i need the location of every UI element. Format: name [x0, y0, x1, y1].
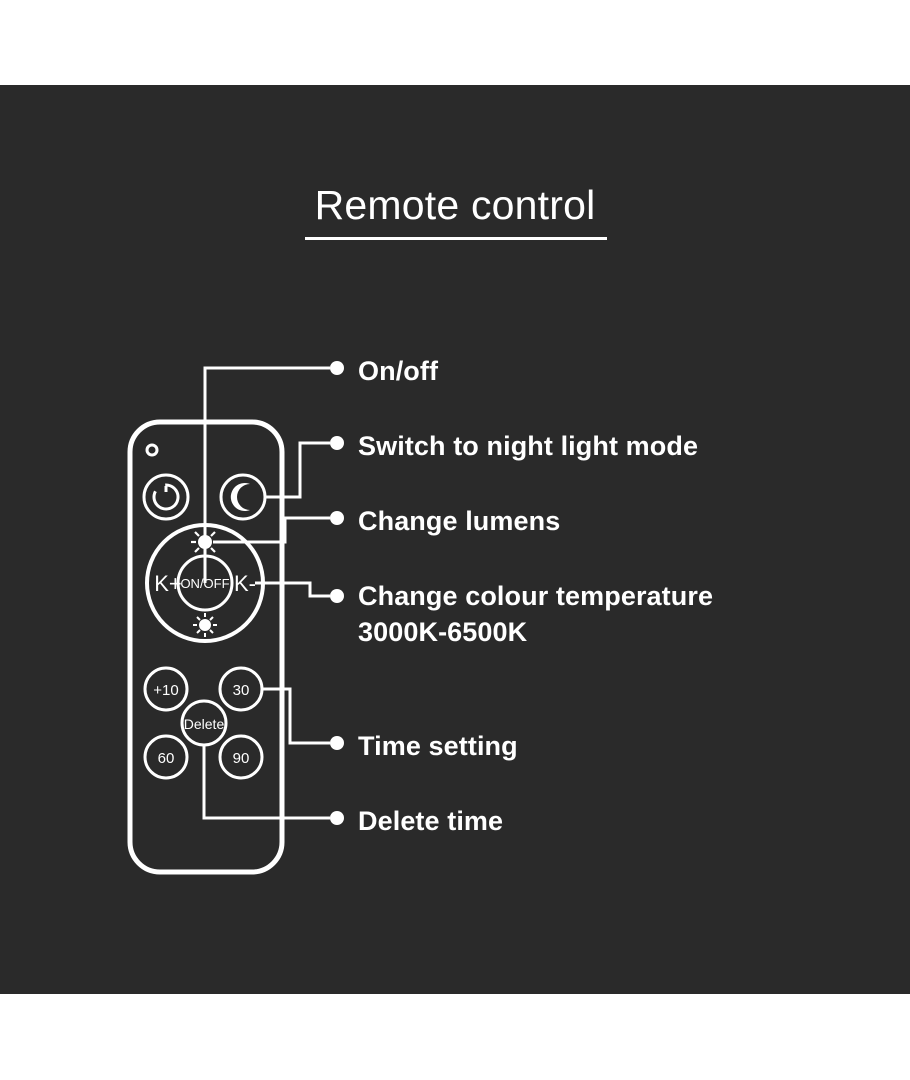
bullet-colour-temperature	[330, 589, 344, 603]
svg-text:Delete: Delete	[184, 716, 225, 732]
leader-line-on-off	[205, 368, 330, 583]
callout-time-setting: Time setting	[358, 728, 518, 764]
callout-delete-time: Delete time	[358, 803, 503, 839]
sun-small-icon[interactable]	[193, 613, 217, 637]
svg-text:+10: +10	[153, 682, 178, 699]
timer-delete-button[interactable]: Delete	[182, 701, 226, 745]
timer-plus10-button[interactable]: +10	[145, 668, 187, 710]
bullet-on-off	[330, 361, 344, 375]
timer-60-button[interactable]: 60	[145, 736, 187, 778]
leader-line-delete-time	[204, 745, 330, 818]
callout-on-off: On/off	[358, 353, 438, 389]
night-mode-button[interactable]	[221, 475, 265, 519]
bullet-delete-time	[330, 811, 344, 825]
bullet-change-lumens	[330, 511, 344, 525]
kelvin-up-label: K+	[154, 571, 182, 596]
callout-colour-temperature: Change colour temperature 3000K-6500K	[358, 578, 713, 650]
leader-line-colour-temperature	[255, 583, 330, 596]
leader-line-time-setting	[262, 689, 330, 743]
kelvin-down-label: K-	[234, 571, 256, 596]
timer-30-button[interactable]: 30	[220, 668, 262, 710]
leader-line-night-light	[265, 443, 330, 497]
svg-text:30: 30	[233, 682, 250, 699]
callout-change-lumens: Change lumens	[358, 503, 560, 539]
page-root: Remote control ON/OFF K+ K-	[0, 0, 910, 1080]
timer-90-button[interactable]: 90	[220, 736, 262, 778]
moon-icon	[231, 483, 250, 511]
led-indicator	[147, 445, 157, 455]
callout-night-light: Switch to night light mode	[358, 428, 698, 464]
bullet-night-light	[330, 436, 344, 450]
remote-diagram: ON/OFF K+ K-	[0, 0, 910, 1080]
power-button[interactable]	[144, 475, 188, 519]
bullet-time-setting	[330, 736, 344, 750]
svg-text:90: 90	[233, 750, 250, 767]
svg-text:60: 60	[158, 750, 175, 767]
